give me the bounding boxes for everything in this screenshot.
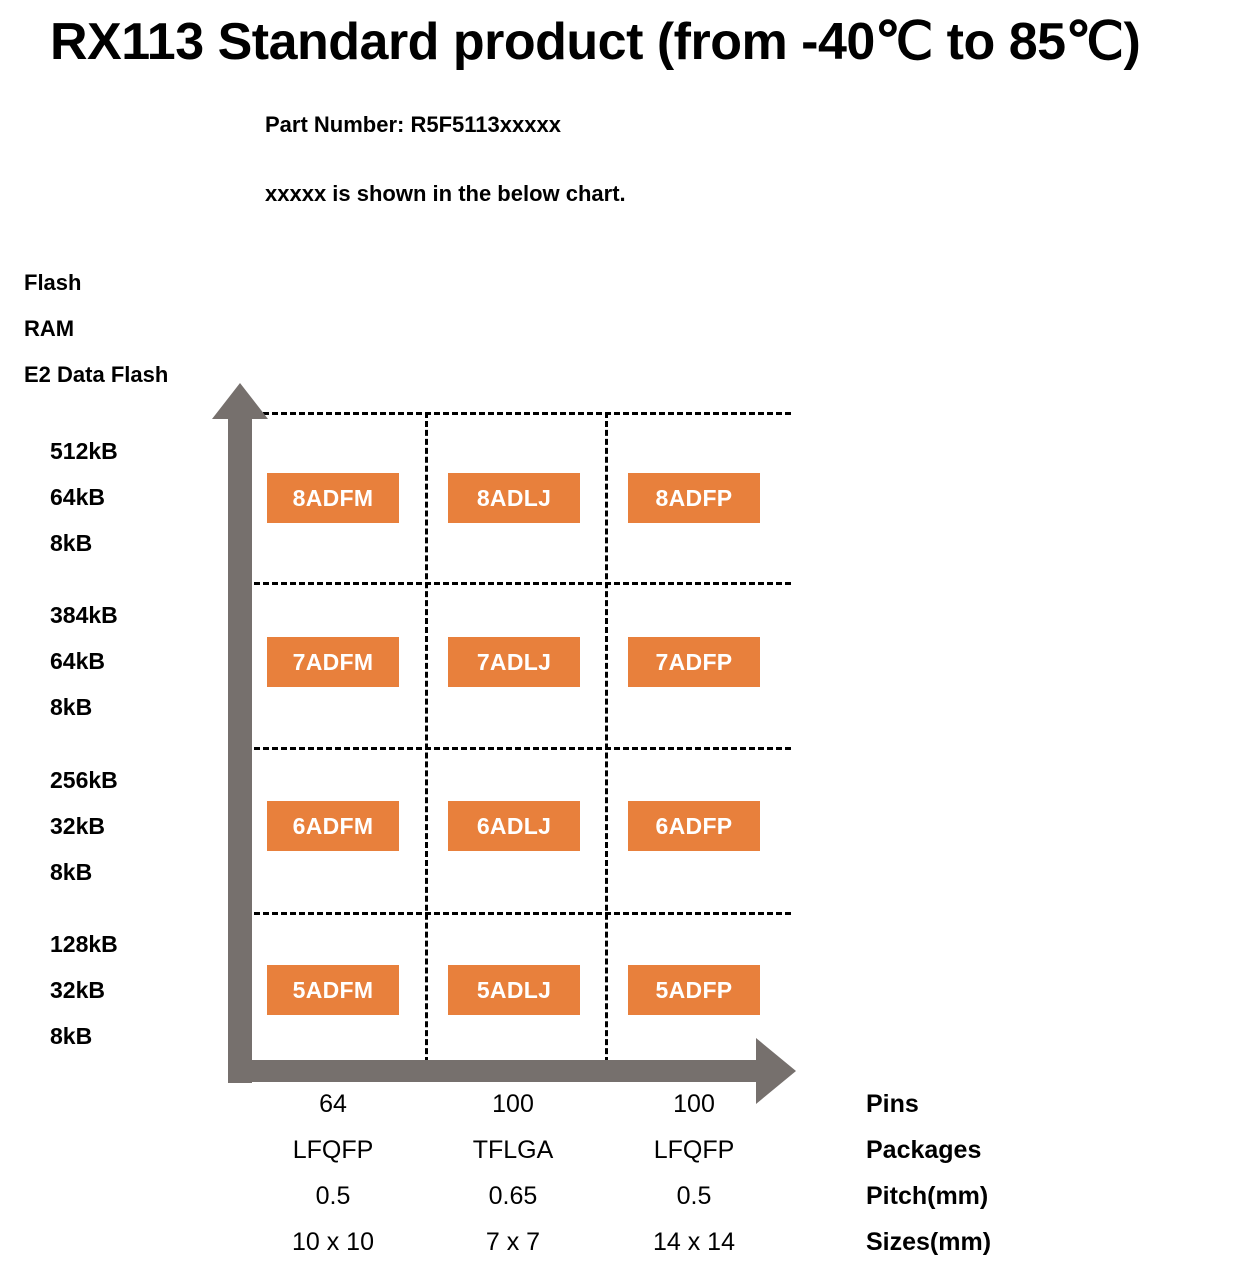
product-chip[interactable]: 6ADLJ bbox=[448, 801, 580, 851]
y-axis-flash-1: 384kB bbox=[50, 592, 225, 638]
y-axis-row-label-1: 384kB 64kB 8kB bbox=[50, 592, 225, 730]
y-axis-row-label-0: 512kB 64kB 8kB bbox=[50, 428, 225, 566]
x-axis-package-0: LFQFP bbox=[248, 1127, 418, 1173]
y-axis-ram-3: 32kB bbox=[50, 967, 225, 1013]
grid-line-horizontal-0 bbox=[254, 412, 791, 415]
y-axis-ram-2: 32kB bbox=[50, 803, 225, 849]
product-chip[interactable]: 7ADFM bbox=[267, 637, 399, 687]
product-chip[interactable]: 8ADFP bbox=[628, 473, 760, 523]
grid-line-vertical-1 bbox=[605, 412, 608, 1072]
x-axis-package-1: TFLGA bbox=[428, 1127, 598, 1173]
x-axis-column-2: 100 LFQFP 0.5 14 x 14 bbox=[609, 1081, 779, 1265]
product-chip[interactable]: 5ADFP bbox=[628, 965, 760, 1015]
y-axis-ram-0: 64kB bbox=[50, 474, 225, 520]
x-axis-legend: Pins Packages Pitch(mm) Sizes(mm) bbox=[866, 1081, 991, 1265]
y-axis-e2-2: 8kB bbox=[50, 849, 225, 895]
y-axis-e2-3: 8kB bbox=[50, 1013, 225, 1059]
product-chip[interactable]: 7ADLJ bbox=[448, 637, 580, 687]
y-axis-key: Flash RAM E2 Data Flash bbox=[24, 260, 168, 398]
product-chip[interactable]: 8ADFM bbox=[267, 473, 399, 523]
x-axis-pins-2: 100 bbox=[609, 1081, 779, 1127]
y-axis-key-ram: RAM bbox=[24, 306, 168, 352]
y-axis-key-flash: Flash bbox=[24, 260, 168, 306]
x-axis-column-0: 64 LFQFP 0.5 10 x 10 bbox=[248, 1081, 418, 1265]
y-axis-ram-1: 64kB bbox=[50, 638, 225, 684]
x-axis-legend-pins: Pins bbox=[866, 1081, 991, 1127]
product-chip[interactable]: 7ADFP bbox=[628, 637, 760, 687]
x-axis-pitch-2: 0.5 bbox=[609, 1173, 779, 1219]
y-axis-key-e2-data-flash: E2 Data Flash bbox=[24, 352, 168, 398]
x-axis-pitch-0: 0.5 bbox=[248, 1173, 418, 1219]
page-title: RX113 Standard product (from -40℃ to 85℃… bbox=[50, 14, 1140, 70]
x-axis-size-2: 14 x 14 bbox=[609, 1219, 779, 1265]
x-axis-size-1: 7 x 7 bbox=[428, 1219, 598, 1265]
y-axis-row-label-3: 128kB 32kB 8kB bbox=[50, 921, 225, 1059]
x-axis-legend-sizes: Sizes(mm) bbox=[866, 1219, 991, 1265]
y-axis-flash-0: 512kB bbox=[50, 428, 225, 474]
x-axis-legend-pitch: Pitch(mm) bbox=[866, 1173, 991, 1219]
y-axis-e2-0: 8kB bbox=[50, 520, 225, 566]
y-axis-flash-2: 256kB bbox=[50, 757, 225, 803]
part-number-text: Part Number: R5F5113xxxxx bbox=[265, 112, 561, 138]
x-axis-package-2: LFQFP bbox=[609, 1127, 779, 1173]
grid-line-horizontal-1 bbox=[254, 582, 791, 585]
product-chip[interactable]: 5ADFM bbox=[267, 965, 399, 1015]
grid-line-horizontal-2 bbox=[254, 747, 791, 750]
product-chip[interactable]: 6ADFP bbox=[628, 801, 760, 851]
grid-line-vertical-0 bbox=[425, 412, 428, 1072]
diagram-canvas: RX113 Standard product (from -40℃ to 85℃… bbox=[0, 0, 1256, 1270]
product-chip[interactable]: 6ADFM bbox=[267, 801, 399, 851]
x-axis-column-1: 100 TFLGA 0.65 7 x 7 bbox=[428, 1081, 598, 1265]
x-axis-pitch-1: 0.65 bbox=[428, 1173, 598, 1219]
y-axis-e2-1: 8kB bbox=[50, 684, 225, 730]
x-axis-size-0: 10 x 10 bbox=[248, 1219, 418, 1265]
grid-line-horizontal-3 bbox=[254, 912, 791, 915]
chart-note-text: xxxxx is shown in the below chart. bbox=[265, 181, 626, 207]
y-axis-arrow-icon bbox=[212, 383, 268, 1083]
y-axis-flash-3: 128kB bbox=[50, 921, 225, 967]
product-chip[interactable]: 5ADLJ bbox=[448, 965, 580, 1015]
x-axis-pins-1: 100 bbox=[428, 1081, 598, 1127]
y-axis-row-label-2: 256kB 32kB 8kB bbox=[50, 757, 225, 895]
x-axis-pins-0: 64 bbox=[248, 1081, 418, 1127]
product-chip[interactable]: 8ADLJ bbox=[448, 473, 580, 523]
x-axis-legend-packages: Packages bbox=[866, 1127, 991, 1173]
